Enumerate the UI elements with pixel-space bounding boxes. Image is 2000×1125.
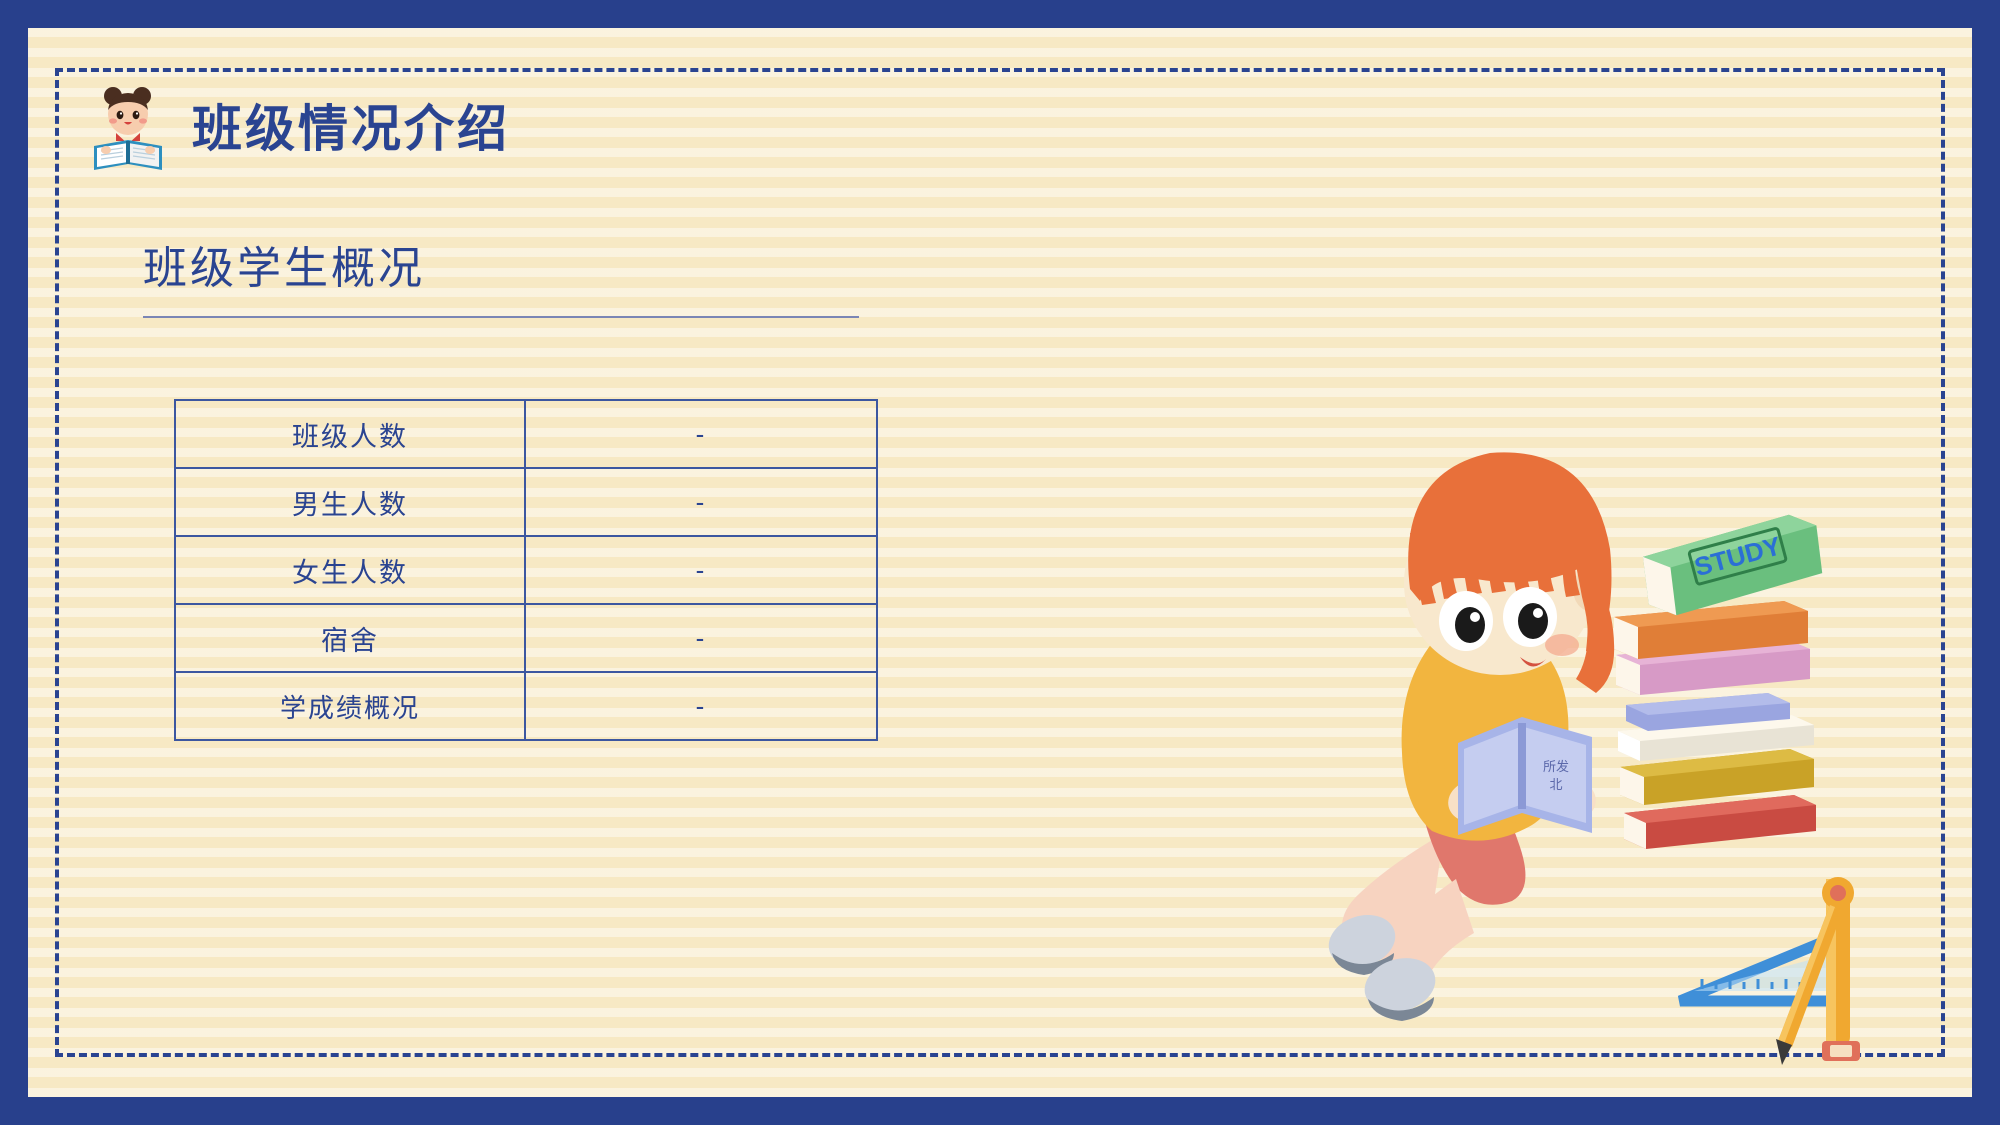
section-divider	[143, 316, 859, 318]
table-cell-label: 宿舍	[175, 604, 525, 672]
table-body: 班级人数 - 男生人数 - 女生人数 - 宿舍 - 学成绩概况 -	[175, 400, 877, 740]
slide-paper-background: 班级情况介绍 班级学生概况 班级人数 - 男生人数 - 女生人数 -	[28, 28, 1972, 1097]
slide-canvas: 班级情况介绍 班级学生概况 班级人数 - 男生人数 - 女生人数 -	[0, 0, 2000, 1125]
section-title: 班级学生概况	[143, 243, 863, 296]
slide-header: 班级情况介绍	[90, 84, 510, 174]
table-cell-label: 女生人数	[175, 536, 525, 604]
table-cell-value[interactable]: -	[525, 604, 877, 672]
table-cell-value[interactable]: -	[525, 400, 877, 468]
table-row: 女生人数 -	[175, 536, 877, 604]
page-title: 班级情况介绍	[192, 104, 510, 154]
table-cell-label: 男生人数	[175, 468, 525, 536]
table-cell-label: 学成绩概况	[175, 672, 525, 740]
section-block: 班级学生概况	[143, 243, 863, 318]
table-cell-label: 班级人数	[175, 400, 525, 468]
table-cell-value[interactable]: -	[525, 536, 877, 604]
table-row: 学成绩概况 -	[175, 672, 877, 740]
class-overview-table: 班级人数 - 男生人数 - 女生人数 - 宿舍 - 学成绩概况 -	[174, 399, 878, 741]
girl-reading-book-icon	[90, 84, 168, 174]
table-row: 宿舍 -	[175, 604, 877, 672]
table-row: 班级人数 -	[175, 400, 877, 468]
table-cell-value[interactable]: -	[525, 672, 877, 740]
table-row: 男生人数 -	[175, 468, 877, 536]
table-cell-value[interactable]: -	[525, 468, 877, 536]
